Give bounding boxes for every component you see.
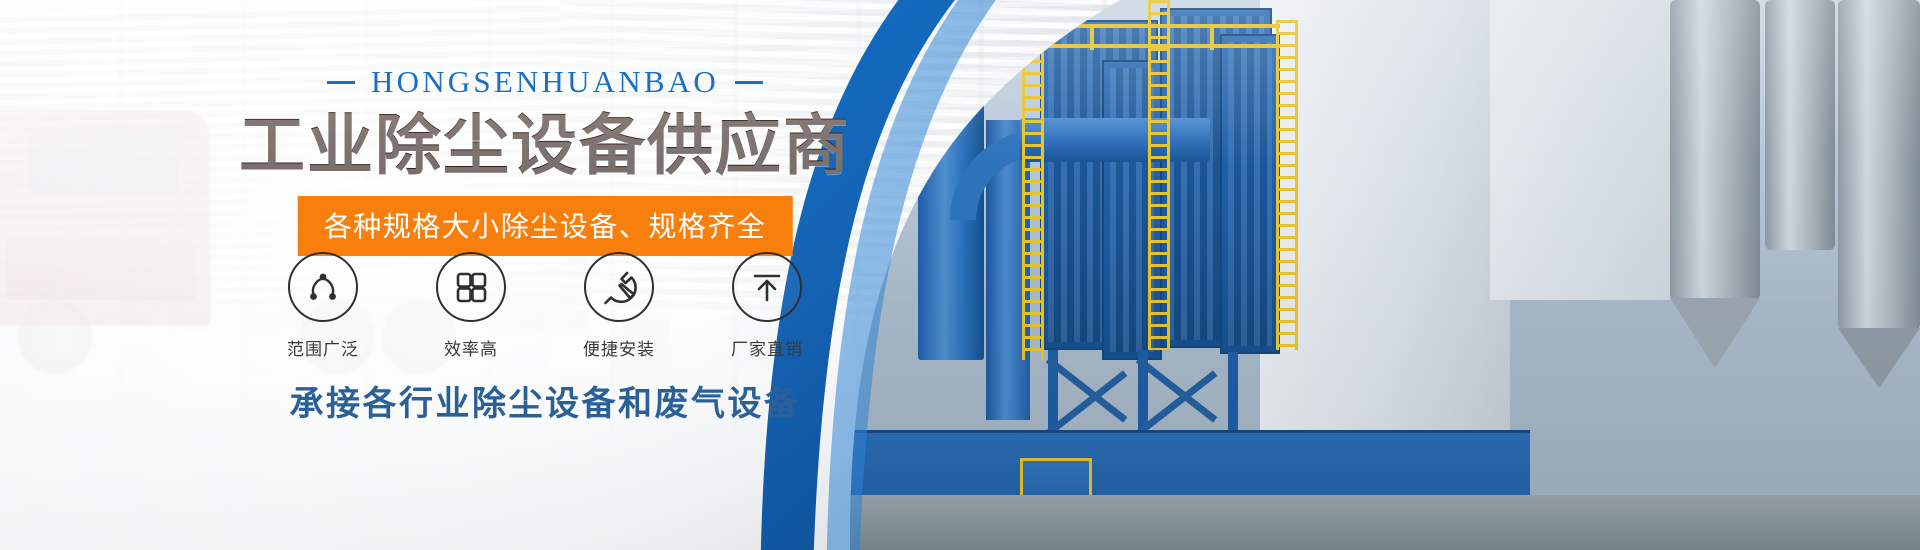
wrench-spanner-icon	[599, 267, 639, 307]
eyebrow-line: HONGSENHUANBAO	[0, 64, 1090, 100]
banner-content: HONGSENHUANBAO 工业除尘设备供应商 各种规格大小除尘设备、规格齐全…	[0, 0, 1090, 550]
feature-icon-circle	[436, 252, 506, 322]
banner-tagline: 承接各行业除尘设备和废气设备	[0, 376, 1090, 425]
feature-item-2[interactable]: 便捷安装	[576, 252, 662, 360]
feature-item-0[interactable]: 范围广泛	[280, 252, 366, 360]
feature-icon-circle	[732, 252, 802, 322]
feature-item-3[interactable]: 厂家直销	[724, 252, 810, 360]
feature-item-1[interactable]: 效率高	[428, 252, 514, 360]
orange-subtitle-bar: 各种规格大小除尘设备、规格齐全	[298, 196, 793, 256]
hero-banner: HONGSENHUANBAO 工业除尘设备供应商 各种规格大小除尘设备、规格齐全…	[0, 0, 1920, 550]
eyebrow-dash-left	[327, 81, 355, 84]
eyebrow-english: HONGSENHUANBAO	[371, 64, 719, 100]
feature-icon-circle	[288, 252, 358, 322]
feature-list: 范围广泛 效率高	[0, 252, 1090, 360]
feature-label: 范围广泛	[287, 335, 359, 360]
network-nodes-icon	[303, 267, 343, 307]
banner-headline: 工业除尘设备供应商	[0, 108, 1090, 184]
feature-label: 便捷安装	[583, 335, 655, 360]
eyebrow-dash-right	[735, 81, 763, 84]
feature-label: 效率高	[444, 335, 498, 360]
upload-arrow-icon	[747, 267, 787, 307]
feature-icon-circle	[584, 252, 654, 322]
grid-four-squares-icon	[451, 267, 491, 307]
feature-label: 厂家直销	[731, 335, 803, 360]
